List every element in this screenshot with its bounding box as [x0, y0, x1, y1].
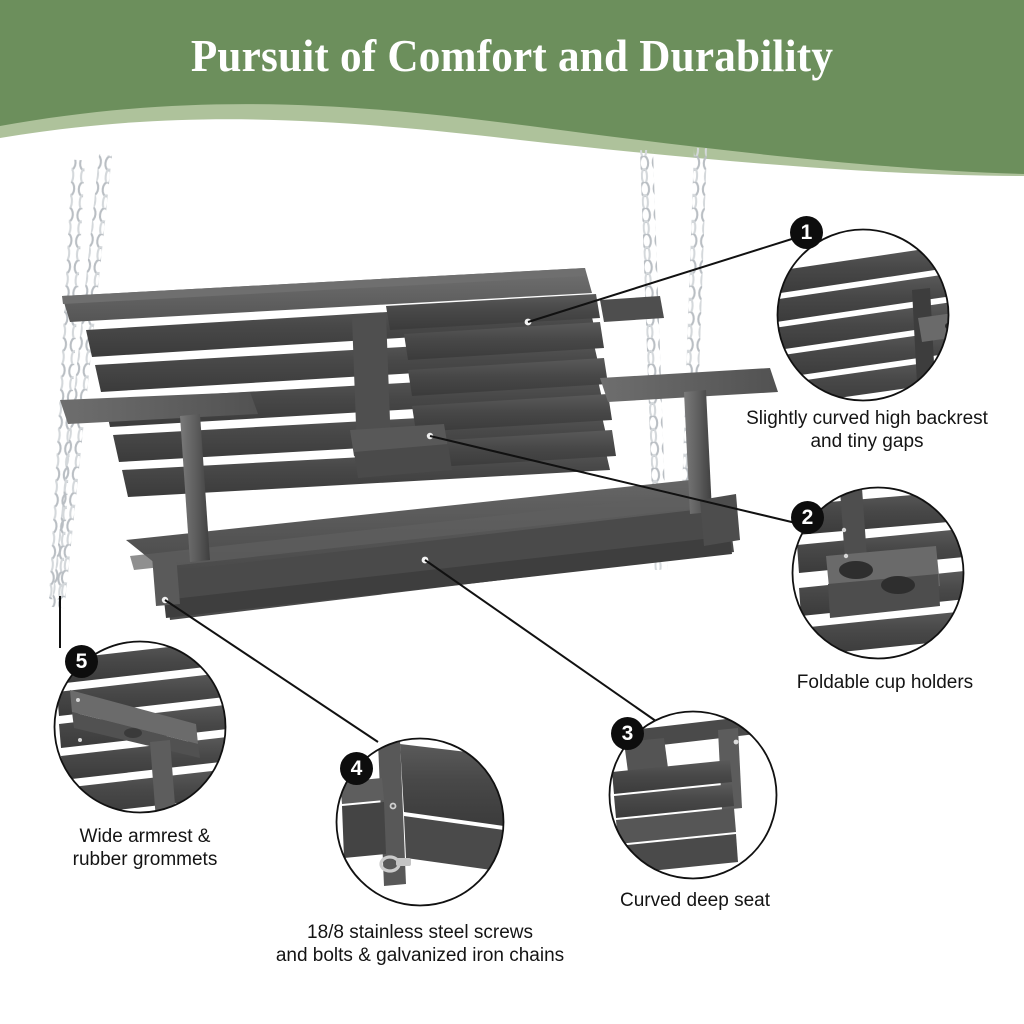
callout-badge-5[interactable]: 5	[65, 645, 98, 678]
callout-caption-1: Slightly curved high backrest and tiny g…	[722, 408, 1012, 454]
callout-badge-3[interactable]: 3	[611, 717, 644, 750]
callout-badge-4[interactable]: 4	[340, 752, 373, 785]
callout-caption-2: Foldable cup holders	[740, 672, 1024, 695]
product-scene: 1 Slightly curved high backrest and tiny…	[0, 0, 1024, 1024]
callout-badge-1[interactable]: 1	[790, 216, 823, 249]
callout-badge-2[interactable]: 2	[791, 501, 824, 534]
callout-caption-4: 18/8 stainless steel screws and bolts & …	[225, 922, 615, 968]
leader-line-3	[425, 560, 663, 726]
callout-caption-5: Wide armrest & rubber grommets	[30, 826, 260, 872]
callout-art-backrest	[770, 230, 964, 406]
infographic-page: Pursuit of Comfort and Durability	[0, 0, 1024, 1024]
callout-caption-3: Curved deep seat	[570, 890, 820, 913]
